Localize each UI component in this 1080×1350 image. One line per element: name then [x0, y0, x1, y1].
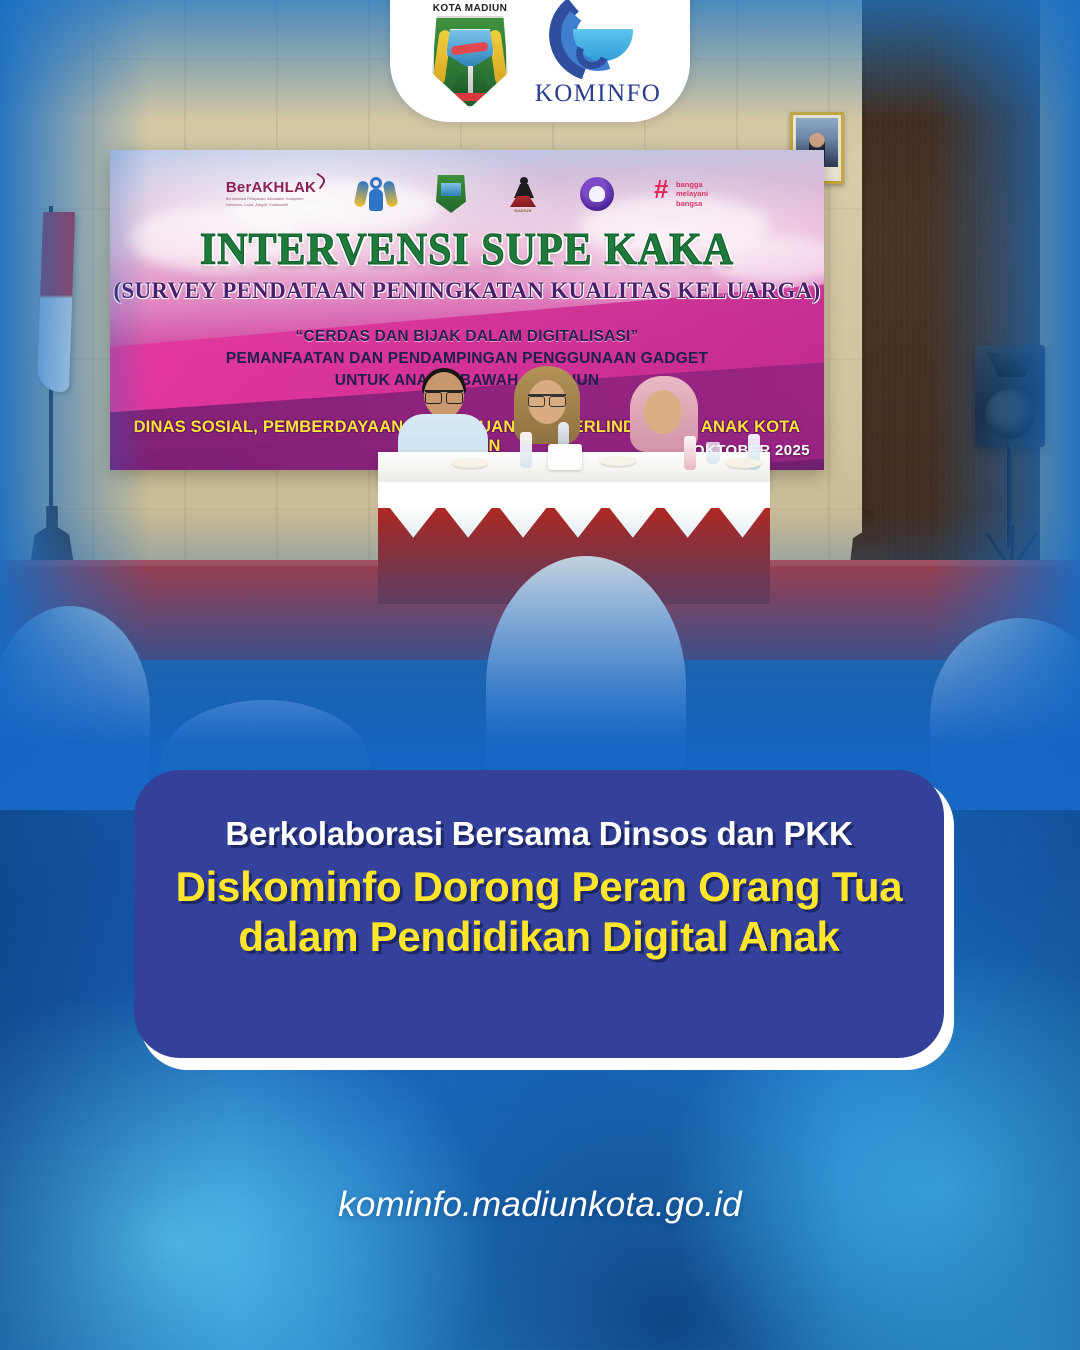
water-bottle — [520, 432, 532, 468]
banner-line-2: PEMANFAATAN DAN PENDAMPINGAN PENGGUNAAN … — [110, 350, 824, 368]
banner-title: INTERVENSI SUPE KAKA — [110, 224, 824, 276]
kota-madiun-logo-block: KOTA MADIUN — [417, 3, 523, 108]
table-cloth-edge — [378, 482, 770, 508]
snack-plate — [452, 458, 488, 468]
header-logo-badge: KOTA MADIUN KOMINFO — [390, 0, 690, 122]
eyeglasses-icon — [425, 390, 463, 400]
water-bottle — [684, 436, 696, 470]
berakhlak-logo-icon: BerAKHLAK Berorientasi Pelayanan, Akunta… — [226, 175, 316, 213]
headline-title: Diskominfo Dorong Peran Orang Tua dalam … — [174, 862, 904, 961]
dancer-logo-caption: MADIUN — [509, 208, 537, 213]
headline-kicker: Berkolaborasi Bersama Dinsos dan PKK — [174, 816, 904, 852]
kota-madiun-crest-logo-icon — [436, 175, 466, 213]
bangga-hash-icon: # — [654, 178, 672, 204]
banner-partner-logo-strip: BerAKHLAK Berorientasi Pelayanan, Akunta… — [110, 172, 824, 216]
tissue-box — [548, 444, 582, 470]
purple-circle-logo-icon — [580, 177, 614, 211]
dp3a-figure-logo-icon — [356, 175, 396, 213]
bangga-melayani-bangsa-logo-icon: # banggamelayanibangsa — [654, 175, 708, 213]
snack-plate — [600, 456, 636, 466]
snack-plate — [726, 458, 762, 468]
drinking-glass — [706, 442, 720, 464]
headline-card-body: Berkolaborasi Bersama Dinsos dan PKK Dis… — [134, 770, 944, 1058]
kota-madiun-label: KOTA MADIUN — [417, 3, 523, 14]
madiun-dancer-logo-icon: MADIUN — [506, 175, 540, 213]
kominfo-wave-logo-icon — [549, 0, 647, 82]
berakhlak-wordmark: BerAKHLAK — [226, 180, 316, 195]
banner-quote: “CERDAS DAN BIJAK DALAM DIGITALISASI” — [110, 328, 824, 346]
kominfo-wordmark: KOMINFO — [533, 80, 663, 108]
poster-canvas: BerAKHLAK Berorientasi Pelayanan, Akunta… — [0, 0, 1080, 1350]
berakhlak-tagline: Berorientasi Pelayanan, Akuntabel, Kompe… — [226, 197, 305, 208]
website-url[interactable]: kominfo.madiunkota.go.id — [0, 1185, 1080, 1225]
banner-subtitle: (SURVEY PENDATAAN PENINGKATAN KUALITAS K… — [110, 278, 824, 304]
headline-card: Berkolaborasi Bersama Dinsos dan PKK Dis… — [134, 770, 954, 1070]
kota-madiun-crest-icon — [432, 16, 508, 108]
photo-bottom-fade — [0, 510, 1080, 810]
bangga-wordmark: banggamelayanibangsa — [676, 180, 708, 208]
kominfo-logo-block: KOMINFO — [533, 0, 663, 108]
eyeglasses-icon — [528, 394, 566, 403]
